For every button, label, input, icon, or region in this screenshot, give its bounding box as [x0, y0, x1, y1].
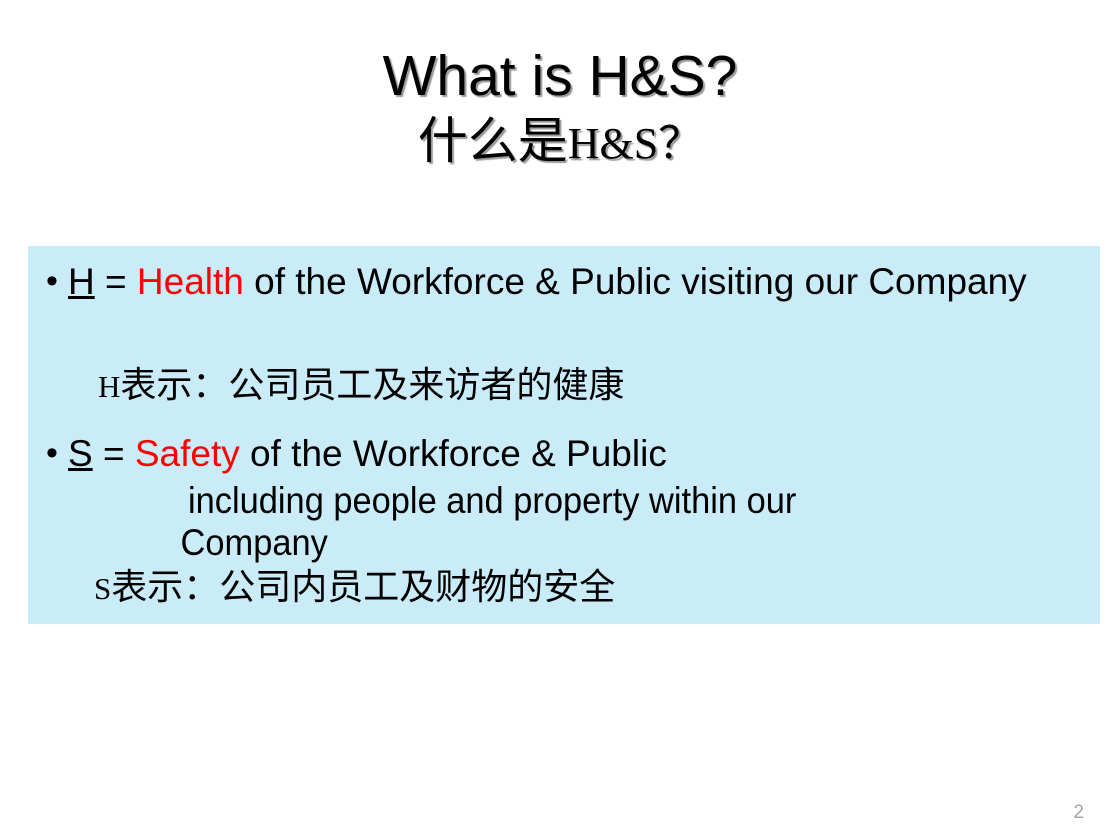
slide-canvas: What is H&S? 什么是H&S？ • H = Health of the… [0, 0, 1120, 840]
safety-continuation: including people and property within our… [188, 480, 1006, 564]
page-number: 2 [1073, 802, 1084, 824]
list-item-health: • H = Health of the Workforce & Public v… [34, 258, 1084, 305]
title-chinese-latin: H&S？ [568, 119, 702, 168]
list-item-health-text: H = Health of the Workforce & Public vis… [68, 258, 1027, 305]
list-item-safety-text: S = Safety of the Workforce & Public [68, 430, 667, 477]
chinese-note-health-letter: H [98, 369, 120, 404]
content-panel: • H = Health of the Workforce & Public v… [28, 246, 1100, 624]
title-chinese: 什么是H&S？ [0, 110, 1120, 175]
chinese-note-health: H表示：公司员工及来访者的健康 [98, 364, 624, 409]
safety-rest: of the Workforce & Public [240, 433, 667, 474]
slide-title-block: What is H&S? 什么是H&S？ [0, 44, 1120, 175]
bullet-marker-icon: • [34, 430, 68, 476]
health-letter: H [68, 261, 95, 302]
health-equals: = [95, 261, 137, 302]
safety-letter: S [68, 433, 93, 474]
chinese-note-safety: S表示：公司内员工及财物的安全 [94, 566, 615, 611]
chinese-note-safety-letter: S [94, 571, 111, 606]
list-item-safety: • S = Safety of the Workforce & Public [34, 430, 1084, 477]
bullet-marker-icon: • [34, 258, 68, 304]
health-rest: of the Workforce & Public visiting our C… [244, 261, 1027, 302]
safety-continuation-line-2: Company [181, 522, 1007, 564]
chinese-note-safety-text: 表示：公司内员工及财物的安全 [111, 567, 615, 608]
title-english: What is H&S? [0, 44, 1120, 108]
health-keyword: Health [137, 261, 244, 302]
safety-equals: = [93, 433, 135, 474]
safety-continuation-line-1: including people and property within our [188, 480, 796, 521]
title-chinese-text: 什么是 [418, 112, 568, 170]
chinese-note-health-text: 表示：公司员工及来访者的健康 [120, 365, 624, 406]
safety-keyword: Safety [135, 433, 240, 474]
